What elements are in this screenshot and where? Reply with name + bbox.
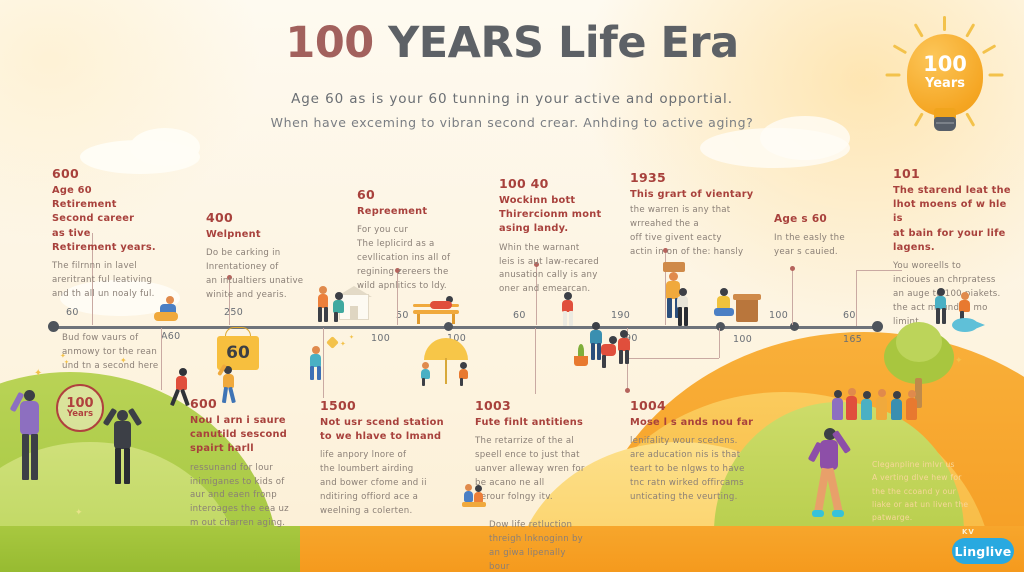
person-body [464, 491, 473, 502]
person-head [592, 322, 600, 330]
person-head [422, 362, 429, 369]
timeline-block-1004: 1004 Mose l s ands nou far lenifality wo… [630, 398, 764, 505]
person-under-umbrella-2 [456, 362, 472, 386]
bulb-base-icon [934, 117, 956, 131]
timeline-block-400: 400 Welpnent Do be carking in Inrentatio… [206, 210, 331, 303]
person-far-right-1 [932, 288, 950, 324]
person-leg [684, 307, 688, 326]
person-cushion [154, 312, 178, 321]
person-body [876, 397, 887, 420]
person-leg [678, 307, 682, 326]
bulb-ray-icon [989, 74, 1004, 77]
block-number: 1935 [630, 170, 762, 185]
connector-stem-bottom [535, 328, 536, 394]
person-flying-kite [306, 346, 328, 380]
connector-stem-bottom [719, 328, 720, 358]
block-number: 60 [357, 187, 483, 202]
tree-crown-highlight-icon [896, 322, 942, 362]
axis-tick-above: 60 [843, 310, 856, 321]
block-heading: Nou l arn i saure canutild sescond spair… [190, 414, 316, 457]
timeline-block-age-s-60: Age s 60 In the easly the year s cauied. [774, 212, 886, 260]
connector-bracket-bottom [627, 358, 719, 359]
block-body: the warren is any that wrreahed the a of… [630, 204, 762, 260]
block-body: In the easly the year s cauied. [774, 232, 886, 260]
person-leg [324, 307, 328, 322]
person-shoe [832, 510, 844, 517]
block-number: 1500 [320, 398, 450, 413]
block-heading: Mose l s ands nou far [630, 416, 764, 430]
circle-badge-value: 100 [66, 397, 93, 411]
person-cheering-1 [14, 386, 48, 482]
sparkle-icon: ✦ [64, 359, 69, 366]
person-head [609, 336, 617, 344]
infographic-canvas: 100 YEARS Life Era Age 60 as is your 60 … [0, 0, 1024, 572]
person-seated-small [462, 484, 486, 510]
connector-stem [856, 270, 857, 326]
block-number: 100 40 [499, 176, 627, 191]
person-leg [124, 448, 130, 484]
axis-tick-above: 100 [769, 310, 788, 321]
person-leg [180, 389, 190, 406]
person-head [834, 390, 842, 398]
block-body: Whin the warnant leis is aut law-recared… [499, 242, 627, 298]
block-number: 600 [190, 396, 316, 411]
block-number: 101 [893, 166, 1015, 181]
person-head [620, 330, 628, 338]
person-body [114, 421, 131, 449]
person-head [465, 484, 472, 491]
person-near-house-2 [330, 292, 348, 322]
person-dancing-bottom-right [798, 428, 854, 524]
bench-small [462, 502, 486, 507]
timeline-block-1003: 1003 Fute finlt antitiens The retarrize … [475, 398, 603, 572]
person-standing-dark [674, 288, 692, 326]
person-head [166, 296, 174, 304]
person-running-left [170, 368, 194, 408]
block-heading: Wockinn bott Thirercionm mont asing land… [499, 194, 627, 237]
bulb-ray-icon [914, 23, 924, 37]
block-heading: Not usr scend station to we hlave to lma… [320, 416, 450, 444]
block-body: Do be carking in Inrentationey of an int… [206, 247, 331, 303]
person-body [20, 401, 39, 435]
person-leg [936, 308, 940, 324]
sparkle-icon: ✦ [120, 356, 127, 365]
footer-caption: Cleganpline imlvr us A verting dlve hew … [872, 458, 1012, 524]
block-heading: Fute finlt antitiens [475, 416, 603, 430]
block-number: 1003 [475, 398, 603, 413]
timeline-block-1500: 1500 Not usr scend station to we hlave t… [320, 398, 450, 519]
person-leg [22, 434, 29, 480]
bulb-ray-icon [965, 23, 975, 37]
person-cheering-2 [106, 406, 140, 486]
person-leg [115, 448, 121, 484]
axis-tick-above: 190 [611, 310, 630, 321]
bulb-badge: 100 Years [884, 14, 1006, 136]
person-leg [591, 343, 595, 360]
umbrella-pole-icon [445, 358, 447, 384]
person-body [318, 294, 328, 308]
crate-lid-icon [733, 294, 761, 300]
person-body [832, 398, 843, 420]
linglive-logo[interactable]: Linglive [952, 538, 1014, 564]
axis-tick-above: 60 [513, 310, 526, 321]
timeline-start-node [48, 321, 59, 332]
title-years: YEARS [388, 18, 543, 68]
bulb-ray-icon [982, 44, 996, 54]
bulb-badge-unit: Years [907, 77, 983, 90]
sparkle-icon: ✦ [349, 334, 354, 341]
sparkle-icon: ✦ [34, 368, 42, 379]
person-leg [625, 350, 629, 364]
axis-tick-above: 250 [224, 307, 243, 318]
bench-leg-icon [417, 314, 420, 324]
block-body: The retarrize of the al speell ence to j… [475, 435, 603, 505]
house-door-icon [350, 306, 358, 320]
page-header: 100 YEARS Life Era Age 60 as is your 60 … [0, 22, 1024, 130]
timeline-block-1935: 1935 This grart of vientary the warren i… [630, 170, 762, 260]
block-heading: This grart of vientary [630, 188, 762, 202]
person-leg [826, 468, 843, 513]
sparkle-icon: ✦ [955, 356, 963, 366]
person-leg [460, 378, 463, 386]
person-leg [310, 366, 314, 380]
person-standing-center [558, 292, 578, 326]
person-head [937, 288, 945, 296]
cloud-2 [130, 128, 200, 166]
title-life-era: Life Era [558, 18, 739, 68]
person-head [961, 292, 969, 300]
person-body [430, 301, 452, 309]
bulb-ray-icon [893, 44, 907, 54]
block-heading: Age 60 Retirement Second career as tive … [52, 184, 174, 255]
person-head [564, 292, 572, 300]
block-body: For you cur The leplicird as a cevllicat… [357, 224, 483, 294]
axis-tick-below: 100 [733, 334, 752, 345]
block-number: 600 [52, 166, 174, 181]
fish-tail-icon [975, 321, 985, 329]
umbrella-canopy-icon [424, 338, 468, 360]
title-100: 100 [285, 18, 373, 68]
timeline-block-600-bottom: 600 Nou l arn i saure canutild sescond s… [190, 396, 316, 531]
timeline-block-100-40: 100 40 Wockinn bott Thirercionm mont asi… [499, 176, 627, 297]
person-leg [317, 366, 321, 380]
person-body [846, 396, 857, 420]
person-head [335, 292, 343, 300]
sparkle-icon: ✦ [75, 508, 83, 518]
block-body-secondary: Dow life retluction threigh lnknoginn by… [475, 519, 603, 572]
bulb-ray-icon [886, 74, 901, 77]
person-head [679, 288, 687, 296]
logo-kv-mark: KV [962, 528, 975, 536]
bottom-band-green [0, 526, 300, 572]
person-under-umbrella-1 [418, 362, 434, 386]
person-head [117, 410, 128, 421]
person-body [906, 398, 917, 420]
person-lap [714, 308, 734, 316]
person-leg [569, 311, 573, 326]
person-on-bench [430, 296, 454, 312]
block-body: ressunand for lour inimiganes to kids of… [190, 462, 316, 532]
person-head [878, 389, 886, 397]
sign-60-value: 60 [226, 343, 250, 363]
person-body [861, 399, 872, 420]
block-body: lenifality wour scedens. are aducation n… [630, 435, 764, 505]
timeline-block-101: 101 The starend leat the lhot moens of w… [893, 166, 1015, 330]
person-shoe [812, 510, 824, 517]
circle-badge-100-years: 100 Years [56, 384, 104, 432]
person-head [863, 391, 871, 399]
person-leg [31, 434, 38, 480]
bulb-badge-value: 100 [907, 54, 983, 75]
person-holding-sign [218, 366, 240, 404]
block-body: life anpory lnore of the loumbert airdin… [320, 449, 450, 519]
page-title: 100 YEARS Life Era [0, 22, 1024, 65]
person-leg [602, 355, 606, 368]
bulb-ray-icon [965, 112, 975, 126]
person-leg [942, 308, 946, 324]
connector-dot [790, 266, 795, 271]
timeline-axis [52, 326, 880, 329]
timeline-block-60: 60 Repreement For you cur The leplicird … [357, 187, 483, 294]
person-leg [563, 311, 567, 326]
subtitle-line-2: When have exceming to vibran second crea… [0, 115, 1024, 130]
bench-leg-icon [452, 314, 455, 324]
person-head [720, 288, 728, 296]
person-head [319, 286, 327, 294]
person-head [312, 346, 320, 354]
timeline-block-600-top: 600 Age 60 Retirement Second career as t… [52, 166, 174, 302]
timeline-end-node [872, 321, 883, 332]
circle-badge-unit: Years [67, 410, 93, 419]
person-head [908, 390, 916, 398]
person-head [848, 388, 856, 396]
person-body [891, 399, 902, 420]
person-leg [228, 387, 236, 403]
connector-stem [792, 268, 793, 325]
block-number: 400 [206, 210, 331, 225]
fish-illustration [952, 318, 986, 332]
person-head [475, 485, 482, 492]
crowd-group [832, 388, 928, 428]
block-heading: The starend leat the lhot moens of w hle… [893, 184, 1015, 255]
connector-stem-bottom [161, 328, 162, 390]
person-head [669, 272, 678, 281]
person-bending [596, 336, 620, 368]
person-leg [667, 298, 672, 318]
person-leg [318, 307, 322, 322]
linglive-logo-text: Linglive [955, 544, 1012, 559]
block-heading: Welpnent [206, 228, 331, 242]
bulb-ray-icon [914, 112, 924, 126]
connector-dot-bottom [625, 388, 630, 393]
bulb-ray-icon [943, 16, 946, 31]
person-leg [170, 389, 180, 406]
person-leg [422, 378, 425, 386]
person-head [24, 390, 35, 401]
axis-tick-above: 60 [66, 307, 79, 318]
box-icon [663, 262, 685, 272]
person-leg [334, 312, 338, 322]
person-head [460, 362, 467, 369]
person-leg [222, 387, 228, 403]
crate-icon [736, 298, 758, 322]
block-heading: Age s 60 [774, 212, 886, 227]
person-reading [152, 296, 182, 324]
person-body [176, 376, 187, 390]
sparkle-icon: ✦ [340, 340, 346, 348]
block-heading: Repreement [357, 205, 483, 219]
axis-tick-below: 165 [843, 334, 862, 345]
bulb-badge-text: 100 Years [907, 54, 983, 90]
block-number: 1004 [630, 398, 764, 413]
person-head [893, 391, 901, 399]
subtitle-line-1: Age 60 as is your 60 tunning in your act… [0, 91, 1024, 107]
axis-tick-below: 100 [371, 333, 390, 344]
person-head [179, 368, 187, 376]
